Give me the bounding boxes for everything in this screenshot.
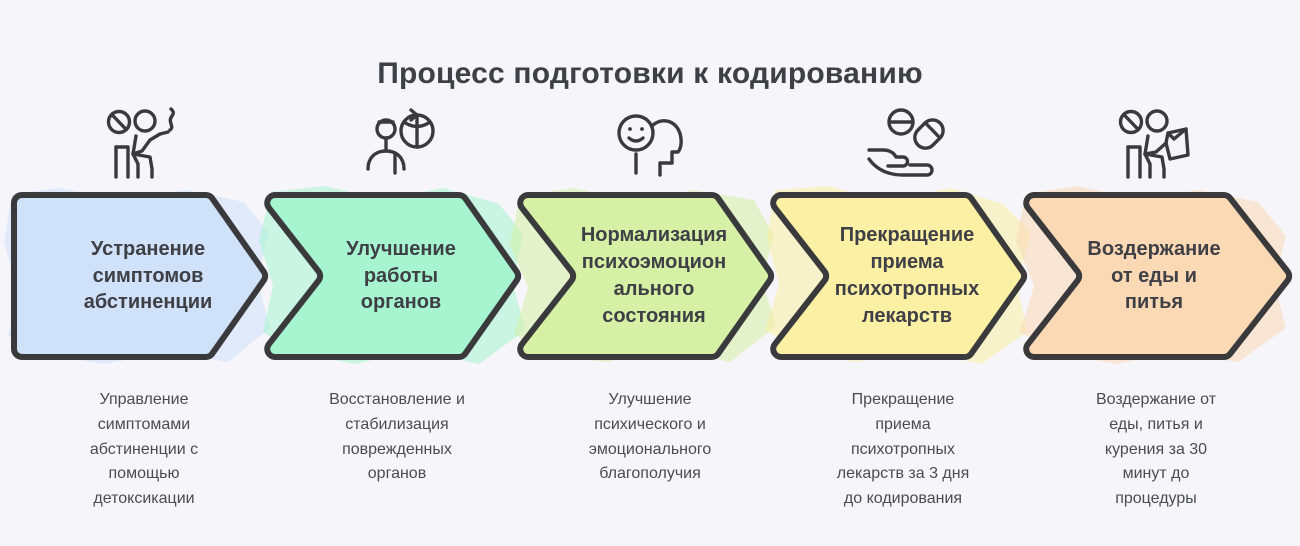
hand-holding-pills-icon bbox=[775, 100, 1031, 186]
step-caption-1: Управление симптомами абстиненции с помо… bbox=[16, 388, 272, 512]
chevron-shape-5 bbox=[1012, 186, 1300, 366]
process-flow: Устранение симптомов абстиненции Управле… bbox=[0, 100, 1300, 540]
chevron-shape-2 bbox=[253, 186, 541, 366]
chevron-outline-1 bbox=[0, 186, 288, 366]
step-caption-4: Прекращение приема психотропных лекарств… bbox=[775, 388, 1031, 512]
chevron-shape-1 bbox=[0, 186, 288, 366]
process-step-2[interactable]: Улучшение работы органов Восстановление … bbox=[269, 100, 525, 540]
step-caption-3: Улучшение психического и эмоционального … bbox=[522, 388, 778, 487]
process-step-1[interactable]: Устранение симптомов абстиненции Управле… bbox=[16, 100, 272, 540]
page-title: Процесс подготовки к кодированию bbox=[0, 56, 1300, 92]
chevron-outline-3 bbox=[506, 186, 794, 366]
process-step-3[interactable]: Нормализация психоэмоцион ального состоя… bbox=[522, 100, 778, 540]
chevron-outline-4 bbox=[759, 186, 1047, 366]
smiley-head-profile-icon bbox=[522, 100, 778, 186]
no-smoking-person-icon bbox=[16, 100, 272, 186]
person-recovery-refresh-icon bbox=[269, 100, 525, 186]
chevron-outline-5 bbox=[1012, 186, 1300, 366]
step-caption-2: Восстановление и стабилизация поврежденн… bbox=[269, 388, 525, 487]
step-caption-5: Воздержание от еды, питья и курения за 3… bbox=[1028, 388, 1284, 512]
chevron-shape-3 bbox=[506, 186, 794, 366]
chevron-outline-2 bbox=[253, 186, 541, 366]
no-eating-person-icon bbox=[1028, 100, 1284, 186]
chevron-shape-4 bbox=[759, 186, 1047, 366]
process-step-5[interactable]: Воздержание от еды и питья Воздержание о… bbox=[1028, 100, 1284, 540]
process-step-4[interactable]: Прекращение приема психотропных лекарств… bbox=[775, 100, 1031, 540]
